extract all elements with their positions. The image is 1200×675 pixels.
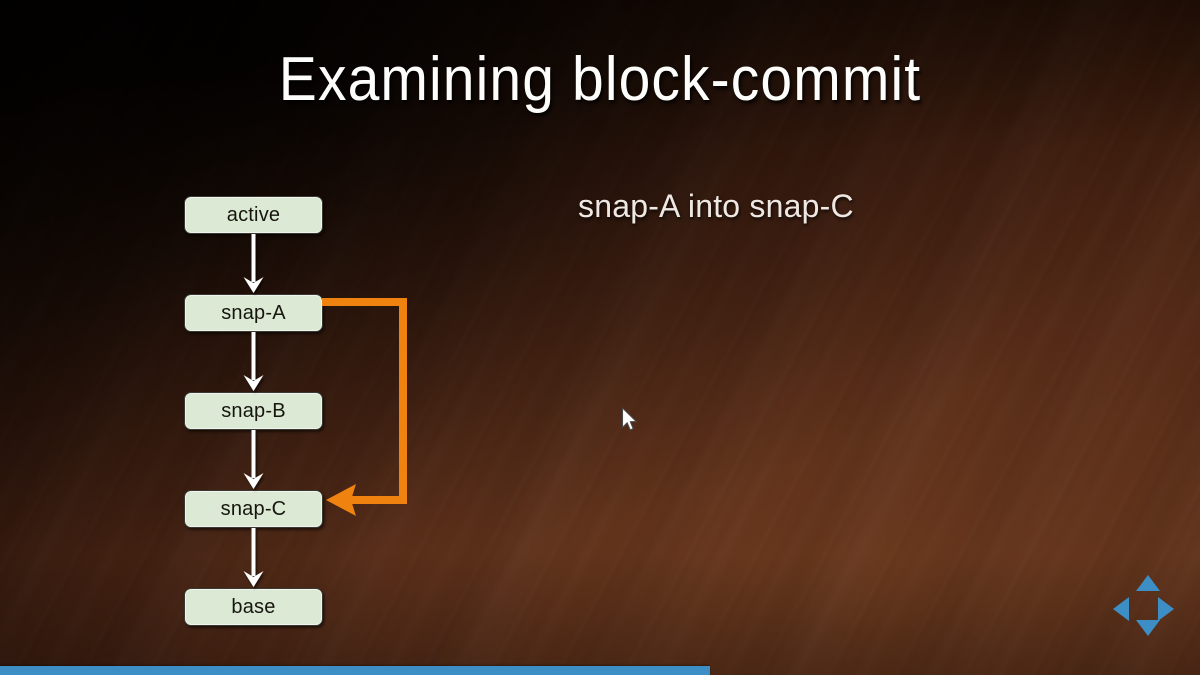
node-label: snap-C — [221, 498, 287, 521]
presentation-slide: Examining block-commit snap-A into snap-… — [0, 0, 1200, 675]
nav-right-arrow-icon[interactable] — [1158, 597, 1174, 621]
node-label: snap-B — [221, 400, 286, 423]
diagram-arrows — [0, 0, 1200, 675]
node-label: snap-A — [221, 302, 286, 325]
node-base: base — [184, 588, 323, 626]
node-label: active — [227, 204, 280, 227]
nav-left-arrow-icon[interactable] — [1113, 597, 1129, 621]
slide-navigation-controls[interactable] — [1111, 572, 1181, 642]
chain-arrow-active-to-snap-a — [244, 234, 264, 293]
chain-arrow-snap-b-to-snap-c — [244, 430, 264, 489]
node-snap-c: snap-C — [184, 490, 323, 528]
nav-down-arrow-icon[interactable] — [1136, 620, 1160, 636]
block-commit-diagram: active snap-A snap-B snap-C base — [0, 0, 1200, 675]
chain-arrow-snap-c-to-base — [244, 528, 264, 587]
slide-progress-fill — [0, 666, 710, 675]
commit-arrow-snap-a-to-snap-c — [322, 302, 403, 516]
mouse-cursor — [621, 407, 639, 433]
node-active: active — [184, 196, 323, 234]
chain-arrow-snap-a-to-snap-b — [244, 332, 264, 391]
slide-progress-track[interactable] — [0, 666, 1200, 675]
node-snap-b: snap-B — [184, 392, 323, 430]
node-snap-a: snap-A — [184, 294, 323, 332]
nav-up-arrow-icon[interactable] — [1136, 575, 1160, 591]
node-label: base — [231, 596, 275, 619]
